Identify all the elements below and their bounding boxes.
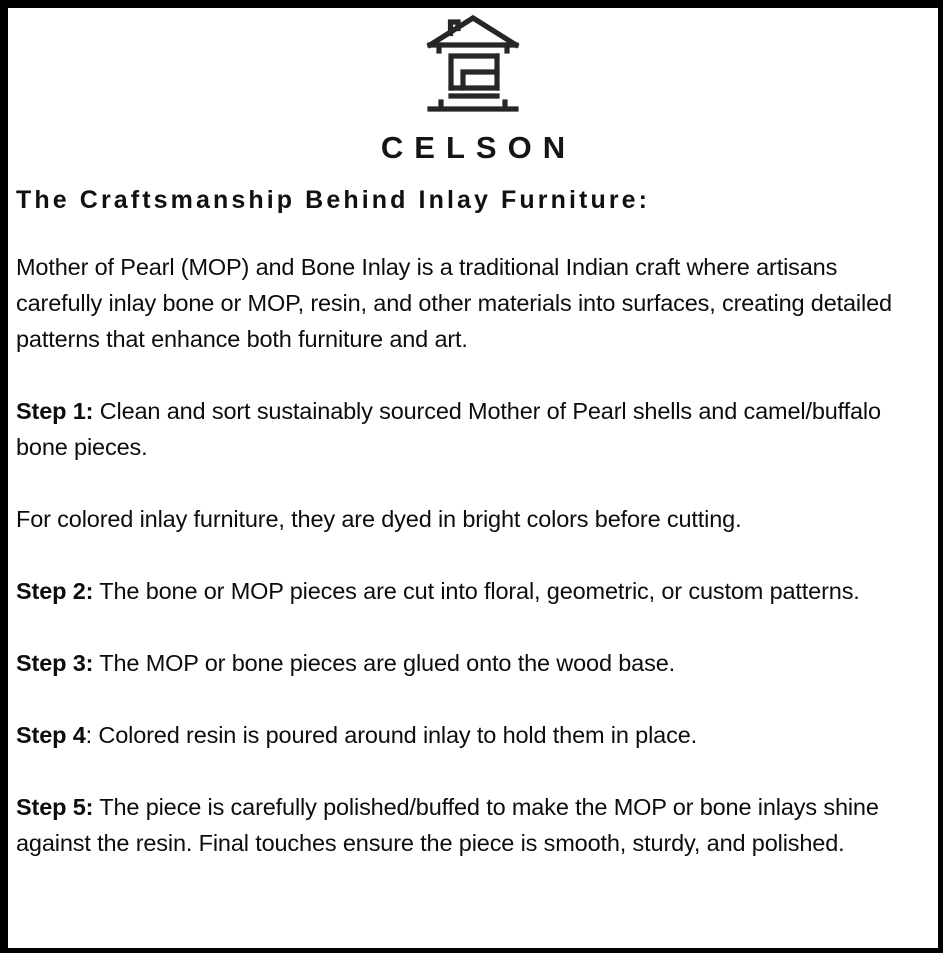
paragraph-colored-note: For colored inlay furniture, they are dy… [16,501,910,537]
brand-wordmark: CELSON [8,132,938,163]
paragraph-text: Colored resin is poured around inlay to … [92,722,697,748]
brand-block: CELSON [8,8,938,163]
paragraph-text: For colored inlay furniture, they are dy… [16,506,741,532]
step-label: Step 1: [16,398,93,424]
page-title: The Craftsmanship Behind Inlay Furniture… [16,185,938,215]
paragraph-step-1: Step 1: Clean and sort sustainably sourc… [16,393,910,465]
paragraph-text: Mother of Pearl (MOP) and Bone Inlay is … [16,254,892,352]
paragraph-step-2: Step 2: The bone or MOP pieces are cut i… [16,573,910,609]
paragraph-text: Clean and sort sustainably sourced Mothe… [16,398,881,460]
paragraph-intro: Mother of Pearl (MOP) and Bone Inlay is … [16,249,910,357]
paragraph-text: The bone or MOP pieces are cut into flor… [93,578,859,604]
paragraph-step-3: Step 3: The MOP or bone pieces are glued… [16,645,910,681]
paragraph-step-5: Step 5: The piece is carefully polished/… [16,789,910,861]
house-monogram-logo-icon [425,14,521,118]
paragraph-step-4: Step 4: Colored resin is poured around i… [16,717,910,753]
step-label: Step 2: [16,578,93,604]
paragraph-text: The piece is carefully polished/buffed t… [16,794,879,856]
step-label: Step 4 [16,722,86,748]
poster-card: CELSON The Craftsmanship Behind Inlay Fu… [0,0,943,953]
paragraph-text: The MOP or bone pieces are glued onto th… [93,650,675,676]
step-label: Step 5: [16,794,93,820]
step-label: Step 3: [16,650,93,676]
body-copy: Mother of Pearl (MOP) and Bone Inlay is … [16,249,938,861]
